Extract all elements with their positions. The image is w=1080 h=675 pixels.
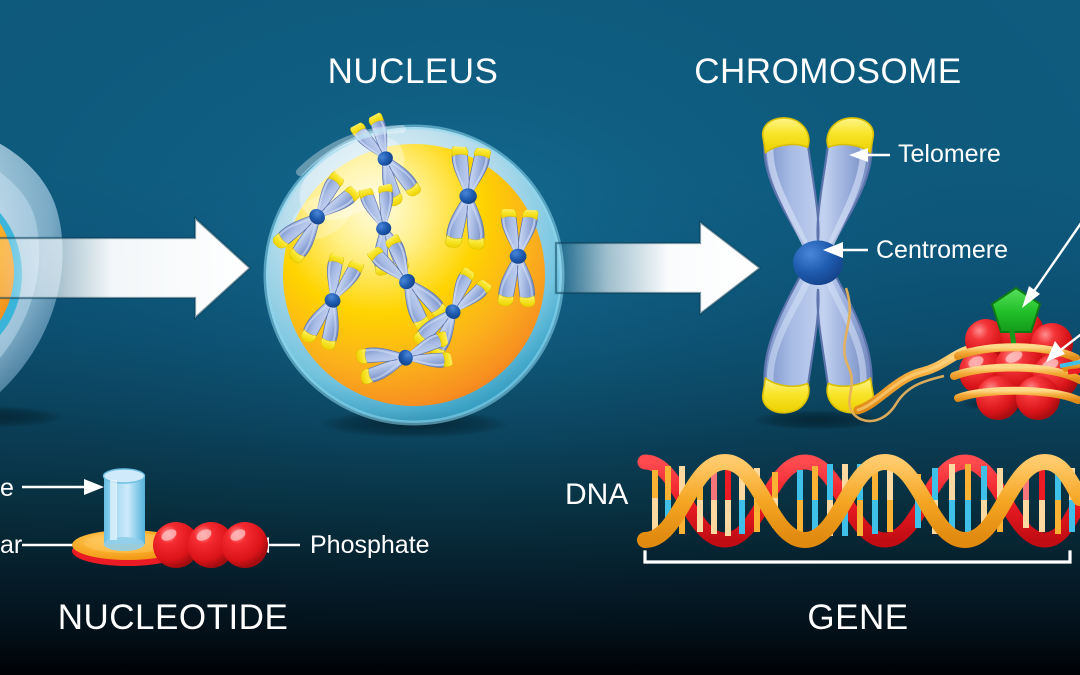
- callout-base-clipped: e: [0, 474, 14, 503]
- gene-bracket: [645, 552, 1070, 562]
- callout-centromere: Centromere: [876, 236, 1008, 265]
- nucleus-illustration: [266, 110, 562, 438]
- section-title-gene: GENE: [807, 598, 908, 638]
- nucleosome-illustration: [858, 288, 1080, 420]
- stage-title-nucleus: NUCLEUS: [328, 52, 499, 92]
- nucleotide-illustration: [72, 469, 268, 568]
- flow-arrow-2: [556, 222, 760, 314]
- stage-title-chromosome: CHROMOSOME: [694, 52, 962, 92]
- histone-h1-leader: [1032, 190, 1080, 294]
- diagram-canvas: NUCLEUS CHROMOSOME Telomere Centromere P…: [0, 0, 1080, 675]
- callout-phosphate: Phosphate: [310, 531, 430, 560]
- section-title-nucleotide: NUCLEOTIDE: [58, 598, 289, 638]
- dna-helix-illustration: [645, 462, 1080, 540]
- diagram-artwork: [0, 0, 1080, 675]
- callout-telomere: Telomere: [898, 140, 1001, 169]
- base-arrowhead: [84, 479, 104, 495]
- label-dna: DNA: [565, 478, 628, 512]
- callout-sugar-clipped: ar: [0, 531, 22, 560]
